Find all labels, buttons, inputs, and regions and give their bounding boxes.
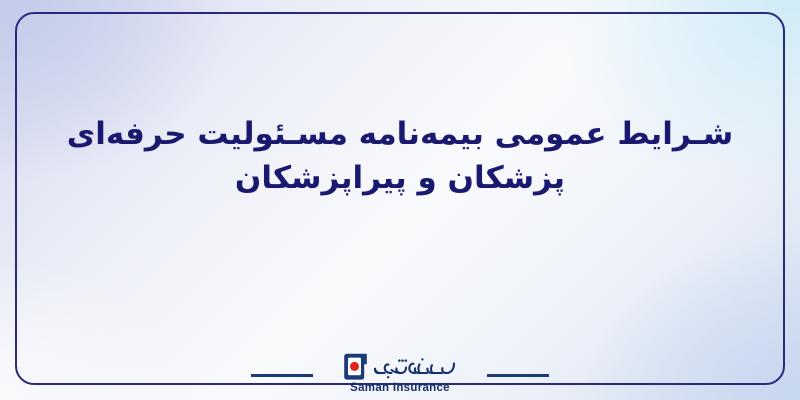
page-title: شـرایط عمومی بیمه‌نامه مسـئولیت حرفه‌ای … — [50, 112, 750, 200]
saman-square-mark-icon — [342, 353, 369, 380]
footer-inner: Saman Insurance — [325, 330, 475, 394]
title-line-2: پزشکان و پیراپزشکان — [50, 156, 750, 200]
saman-insurance-logo: Saman Insurance — [325, 351, 475, 394]
logo-top-row — [342, 351, 458, 381]
footer-rule-left — [251, 374, 313, 377]
footer-rule-right — [487, 374, 549, 377]
footer-brand-lockup: Saman Insurance — [0, 330, 800, 394]
title-line-1: شـرایط عمومی بیمه‌نامه مسـئولیت حرفه‌ای — [50, 112, 750, 156]
cover-page: شـرایط عمومی بیمه‌نامه مسـئولیت حرفه‌ای … — [0, 0, 800, 400]
logo-subtitle: Saman Insurance — [350, 382, 450, 394]
saman-wordmark-script-icon — [372, 352, 458, 380]
